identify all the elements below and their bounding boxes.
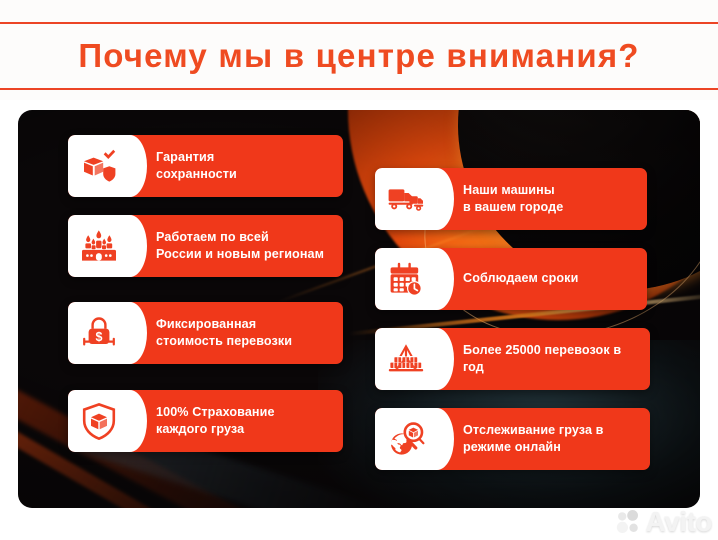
card-line-1: Более 25000 перевозок в — [463, 342, 638, 359]
card-line-2: год — [463, 359, 638, 376]
icon-plate: $ — [68, 302, 130, 364]
avito-watermark: Avito — [615, 508, 712, 536]
avito-wordmark: Avito — [646, 508, 712, 536]
card-label: Более 25000 перевозок в год — [437, 328, 650, 390]
kremlin-cathedral-icon — [80, 230, 118, 262]
calendar-clock-icon — [388, 262, 424, 297]
card-label: Соблюдаем сроки — [437, 248, 647, 310]
icon-plate — [375, 328, 437, 390]
feature-card-fixed-price[interactable]: $ Фиксированная стоимость перевозки — [68, 302, 343, 364]
icon-plate — [375, 248, 437, 310]
card-line-1: Работаем по всей — [156, 229, 331, 246]
box-check-shield-icon — [81, 149, 117, 183]
feature-card-coverage[interactable]: Работаем по всей России и новым регионам — [68, 215, 343, 277]
delivery-trucks-icon — [387, 184, 425, 214]
avito-logo-icon — [615, 509, 641, 535]
feature-card-insurance[interactable]: 100% Страхование каждого груза — [68, 390, 343, 452]
feature-card-guarantee[interactable]: Гарантия сохранности — [68, 135, 343, 197]
card-label: Работаем по всей России и новым регионам — [130, 215, 343, 277]
card-line-2: каждого груза — [156, 421, 331, 438]
card-label: Фиксированная стоимость перевозки — [130, 302, 343, 364]
card-line-2: сохранности — [156, 166, 331, 183]
feature-card-fleet[interactable]: Наши машины в вашем городе — [375, 168, 647, 230]
icon-plate — [375, 408, 437, 470]
card-line-1: Фиксированная — [156, 316, 331, 333]
card-line-1: Наши машины — [463, 182, 635, 199]
card-line-2: в вашем городе — [463, 199, 635, 216]
icon-plate — [68, 135, 130, 197]
feature-card-volume[interactable]: Более 25000 перевозок в год — [375, 328, 650, 390]
feature-card-deadlines[interactable]: Соблюдаем сроки — [375, 248, 647, 310]
slide-root: Почему мы в центре внимания? — [0, 0, 718, 540]
cargo-stack-crane-icon — [387, 343, 425, 375]
card-line-1: Соблюдаем сроки — [463, 270, 635, 287]
feature-panel: Гарантия сохранности — [18, 110, 700, 508]
padlock-dollar-icon: $ — [81, 315, 117, 351]
shield-box-icon — [82, 403, 116, 440]
card-label: Гарантия сохранности — [130, 135, 343, 197]
icon-plate — [375, 168, 437, 230]
card-line-2: России и новым регионам — [156, 246, 331, 263]
svg-text:$: $ — [96, 330, 103, 344]
feature-card-tracking[interactable]: Отслеживание груза в режиме онлайн — [375, 408, 650, 470]
page-title: Почему мы в центре внимания? — [0, 26, 718, 86]
card-label: 100% Страхование каждого груза — [130, 390, 343, 452]
header-rule-bottom — [0, 88, 718, 90]
card-label: Отслеживание груза в режиме онлайн — [437, 408, 650, 470]
card-line-1: 100% Страхование — [156, 404, 331, 421]
icon-plate — [68, 390, 130, 452]
card-line-1: Отслеживание груза в — [463, 422, 638, 439]
card-line-1: Гарантия — [156, 149, 331, 166]
card-line-2: стоимость перевозки — [156, 333, 331, 350]
card-line-2: режиме онлайн — [463, 439, 638, 456]
icon-plate — [68, 215, 130, 277]
header-band: Почему мы в центре внимания? — [0, 0, 718, 100]
header-rule-top — [0, 22, 718, 24]
card-label: Наши машины в вашем городе — [437, 168, 647, 230]
globe-magnifier-box-icon — [388, 421, 425, 457]
